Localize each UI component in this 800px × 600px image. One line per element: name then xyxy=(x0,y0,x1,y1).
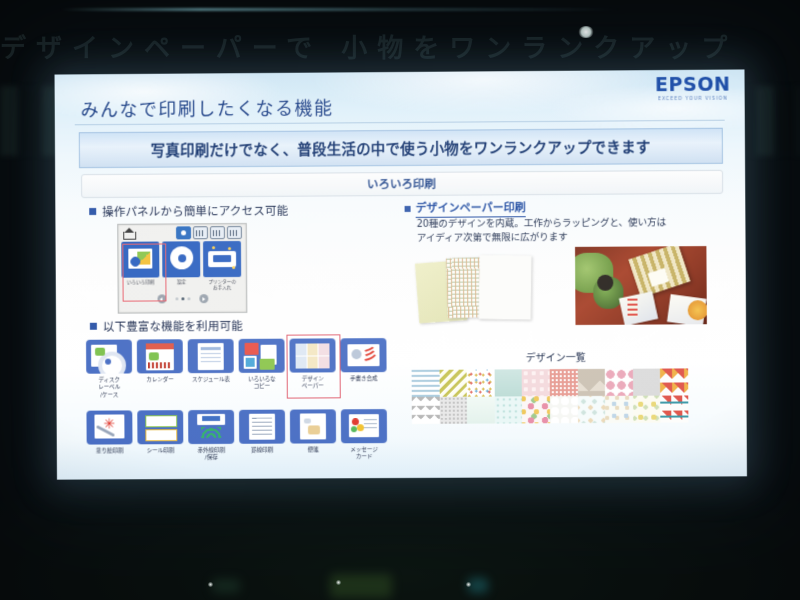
panel-tile-maintenance[interactable]: プリンターの お手入れ xyxy=(203,241,241,292)
design-paper-icon xyxy=(289,338,335,372)
sticker-print-icon xyxy=(137,410,183,444)
home-icon[interactable] xyxy=(122,227,135,239)
floor-glow xyxy=(468,578,488,593)
bullet-square-icon xyxy=(405,206,411,212)
page-indicator-dots xyxy=(175,298,190,301)
gear-icon xyxy=(162,241,200,277)
swatch-confetti-dots xyxy=(467,369,495,396)
brand-tagline: EXCEED YOUR VISION xyxy=(655,97,730,103)
feature-disc-label[interactable]: ディスク レーベル /ケース xyxy=(86,340,132,400)
feature-label: シール印刷 xyxy=(137,448,183,455)
epson-logo: EPSON EXCEED YOUR VISION xyxy=(655,76,731,103)
printer-maintenance-icon xyxy=(203,241,241,277)
feature-handwriting-compose[interactable]: 彡 手書き合成 xyxy=(340,338,386,398)
disc-label-icon xyxy=(86,340,132,374)
bullet-square-icon xyxy=(90,323,97,330)
floor-light-dot xyxy=(208,582,213,587)
swatch-soft-birds xyxy=(605,396,633,423)
bullet-square-icon xyxy=(89,208,96,215)
slide-subtitle: 写真印刷だけでなく、普段生活の中で使う小物をワンランクアップできます xyxy=(151,136,651,160)
swatch-watercolor-flowers xyxy=(522,396,550,423)
feature-label: 手書き合成 xyxy=(341,376,387,384)
feature-message-card[interactable]: メッセージ カード xyxy=(341,409,387,462)
ceiling-light xyxy=(578,26,594,38)
floor-light-dot xyxy=(336,580,341,585)
next-page-button[interactable] xyxy=(199,295,208,304)
feature-label: デザイン ペーパー xyxy=(290,376,336,391)
design-paper-heading-text: デザインペーパー印刷 xyxy=(416,199,526,218)
panel-tile-label: 設定 xyxy=(162,280,200,286)
swatch-grey-solid xyxy=(633,369,661,396)
ruled-line-print-icon xyxy=(239,410,285,444)
schedule-icon xyxy=(188,339,234,373)
bullet-rich-features: 以下豊富な機能を利用可能 xyxy=(90,318,243,335)
panel-tile-label: いろいろ印刷 xyxy=(122,280,160,286)
floor-glow xyxy=(330,574,392,598)
panel-navigation xyxy=(119,291,247,304)
floor-light-dot xyxy=(466,582,471,587)
feature-label: カレンダー xyxy=(137,377,183,385)
swatch-blue-stripes xyxy=(412,370,440,397)
swatch-teal-trees xyxy=(661,395,689,422)
gallery-caption: デザイン一覧 xyxy=(526,349,586,364)
panel-status-bar xyxy=(118,224,246,242)
panel-tile-iroiro-print[interactable]: いろいろ印刷 xyxy=(121,242,159,287)
photo-print-icon xyxy=(121,242,159,278)
slide-subtitle-bar: 写真印刷だけでなく、普段生活の中で使う小物をワンランクアップできます xyxy=(79,128,723,168)
swatch-pink-polka-dots xyxy=(605,369,633,396)
feature-label: 塗り絵印刷 xyxy=(87,448,133,455)
gift-wrapping-photo xyxy=(575,246,707,325)
feature-label: 赤外線印刷 /保存 xyxy=(188,448,234,463)
swatch-pink-floral xyxy=(522,369,550,396)
section-label: いろいろ印刷 xyxy=(367,176,436,192)
design-paper-heading: デザインペーパー印刷 xyxy=(405,199,526,218)
ink-status-icon xyxy=(193,226,208,239)
prev-page-button[interactable] xyxy=(157,295,166,304)
paper-sample-sheets xyxy=(417,253,568,326)
bullet-text: 以下豊富な機能を利用可能 xyxy=(103,318,243,335)
slide-title: みんなで印刷したくなる機能 xyxy=(81,94,334,122)
paper-status-icon xyxy=(210,226,225,239)
feature-label: いろいろな コピー xyxy=(239,377,285,392)
feature-design-paper[interactable]: デザイン ペーパー xyxy=(289,338,335,398)
feature-label: 便箋 xyxy=(290,447,336,454)
swatch-grey-texture xyxy=(439,397,467,424)
section-header-box: いろいろ印刷 xyxy=(81,170,723,198)
bullet-access-panel: 操作パネルから簡単にアクセス可能 xyxy=(89,203,288,220)
panel-tile-settings[interactable]: 設定 xyxy=(162,241,200,286)
swatch-pale-mint xyxy=(467,396,495,423)
feature-label: メッセージ カード xyxy=(341,447,387,462)
panel-status-icons xyxy=(176,226,242,239)
brand-name: EPSON xyxy=(655,76,731,96)
feature-grid-row1: ディスク レーベル /ケース カレンダー スケジュール表 xyxy=(86,338,387,399)
swatch-taupe-diamond xyxy=(577,369,605,396)
swatch-grey-chevron xyxy=(412,397,440,424)
feature-grid-row2: ✳ 塗り絵印刷 シール印刷 赤外線印刷 /保存 罫 xyxy=(86,409,387,463)
feature-label: スケジュール表 xyxy=(188,377,234,385)
panel-tile-row: いろいろ印刷 設定 プリンターの お手入れ xyxy=(118,241,246,292)
presentation-slide: EPSON EXCEED YOUR VISION みんなで印刷したくなる機能 写… xyxy=(55,69,747,479)
background-ghost-text: デザインペーパーで 小物をワンランクアップ xyxy=(0,28,800,64)
panel-tile-label: プリンターの お手入れ xyxy=(203,280,241,292)
swatch-white-blossom xyxy=(550,396,578,423)
swatch-coral-gingham xyxy=(550,369,578,396)
swatch-pastel-animals xyxy=(578,396,606,423)
swatch-aqua-dots xyxy=(495,396,523,423)
network-status-icon xyxy=(176,226,191,239)
feature-infrared-print[interactable]: 赤外線印刷 /保存 xyxy=(188,410,234,463)
design-swatch-gallery xyxy=(412,368,689,424)
infrared-print-icon xyxy=(188,410,234,444)
feature-schedule[interactable]: スケジュール表 xyxy=(188,339,234,399)
letter-paper-icon xyxy=(290,409,336,443)
feature-sticker-print[interactable]: シール印刷 xyxy=(137,410,183,463)
feature-label: ディスク レーベル /ケース xyxy=(86,377,132,399)
swatch-yellow-doodle xyxy=(633,396,661,423)
floor-glow xyxy=(212,579,240,593)
bullet-text: 操作パネルから簡単にアクセス可能 xyxy=(102,203,288,220)
feature-calendar[interactable]: カレンダー xyxy=(137,339,183,399)
coloring-print-icon: ✳ xyxy=(86,410,132,444)
swatch-mint-solid xyxy=(494,369,522,396)
sample-sheet-dotted xyxy=(479,255,532,320)
message-card-icon xyxy=(341,409,387,443)
feature-letter-paper[interactable]: 便箋 xyxy=(290,409,336,462)
settings-status-icon xyxy=(227,226,242,239)
design-paper-description: 20種のデザインを内蔵。工作からラッピングと、使い方は アイディア次第で無限に広… xyxy=(417,216,728,246)
feature-various-copy[interactable]: いろいろな コピー xyxy=(239,339,285,399)
feature-label: 罫線印刷 xyxy=(239,448,285,455)
swatch-red-triangles xyxy=(660,368,688,395)
swatch-olive-diagonal-stripes xyxy=(439,370,467,397)
copy-icon xyxy=(239,339,285,373)
feature-ruled-line-print[interactable]: 罫線印刷 xyxy=(239,410,285,463)
handwriting-compose-icon: 彡 xyxy=(340,338,386,372)
printer-control-panel: いろいろ印刷 設定 プリンターの お手入れ xyxy=(117,223,247,314)
calendar-icon xyxy=(137,339,183,373)
feature-coloring-print[interactable]: ✳ 塗り絵印刷 xyxy=(86,410,132,463)
